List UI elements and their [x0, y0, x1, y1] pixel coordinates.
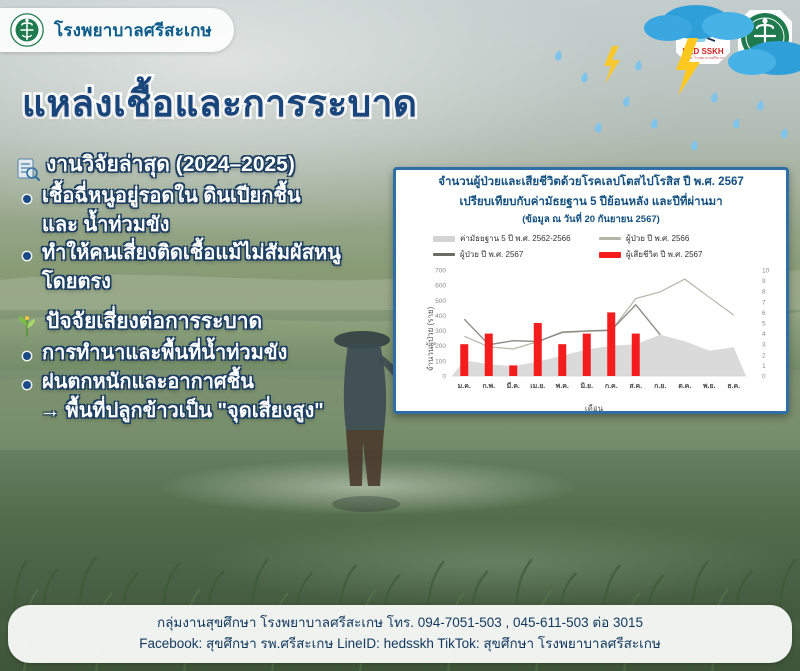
list-item: เชื้อฉี่หนูอยู่รอดใน ดินเปียกชื้น [14, 184, 414, 210]
partner-badges: HED SSKH สุขศึกษา โรงพยาบาลศรีสะเกษ [676, 10, 792, 64]
raindrop-icon [555, 50, 788, 151]
bullet-text: เชื้อฉี่หนูอยู่รอดใน ดินเปียกชื้น [42, 185, 301, 207]
chart-svg: 0100200300400500600700012345678910ม.ค.ก.… [396, 264, 789, 396]
legend-item-deaths-2567: ผู้เสียชีวิต ปี พ.ศ. 2567 [599, 248, 749, 261]
svg-text:6: 6 [762, 310, 766, 317]
chart-subtitle: (ข้อมูล ณ วันที่ 20 กันยายน 2567) [396, 210, 786, 227]
footer-contact: กลุ่มงานสุขศึกษา โรงพยาบาลศรีสะเกษ โทร. … [8, 605, 792, 663]
legend-swatch-cases-2567 [433, 253, 455, 256]
legend-swatch-cases-2566 [599, 237, 621, 240]
bullet-continuation-text: โดยตรง [42, 271, 111, 293]
section-heading: ปัจจัยเสี่ยงต่อการระบาด [46, 309, 262, 335]
svg-text:ต.ค.: ต.ค. [678, 383, 691, 390]
chart-title-line2: เปรียบเทียบกับค่ามัธยฐาน 5 ปีย้อนหลัง แล… [396, 190, 786, 210]
svg-text:1: 1 [762, 363, 766, 370]
legend-item-cases-2567: ผู้ป่วย ปี พ.ศ. 2567 [433, 248, 583, 261]
svg-text:ก.ย.: ก.ย. [654, 383, 666, 390]
svg-text:2: 2 [762, 353, 766, 360]
page-title: แหล่งเชื้อและการระบาด [22, 74, 417, 133]
section-risk-factors: ปัจจัยเสี่ยงต่อการระบาด การทำนาและพื้นที… [14, 309, 414, 424]
chart-legend: ค่ามัธยฐาน 5 ปี พ.ศ. 2562-2566 ผู้ป่วย ป… [396, 227, 786, 264]
svg-text:400: 400 [435, 313, 446, 320]
svg-text:พ.ค.: พ.ค. [556, 383, 569, 390]
svg-text:700: 700 [435, 268, 446, 275]
svg-text:200: 200 [435, 344, 446, 351]
legend-label: ผู้ป่วย ปี พ.ศ. 2567 [460, 248, 523, 261]
list-item: ทำให้คนเสี่ยงติดเชื้อแม้ไม่สัมผัสหนู [14, 241, 414, 267]
svg-text:500: 500 [435, 298, 446, 305]
legend-item-cases-2566: ผู้ป่วย ปี พ.ศ. 2566 [599, 232, 749, 245]
legend-label: ค่ามัธยฐาน 5 ปี พ.ศ. 2562-2566 [460, 232, 571, 245]
footer-line-1: กลุ่มงานสุขศึกษา โรงพยาบาลศรีสะเกษ โทร. … [22, 613, 778, 634]
hed-sskh-badge: HED SSKH สุขศึกษา โรงพยาบาลศรีสะเกษ [676, 10, 730, 64]
svg-text:มี.ค.: มี.ค. [506, 382, 520, 390]
section-conclusion: → พื้นที่ปลูกข้าวเป็น "จุดเสี่ยงสูง" [14, 399, 414, 425]
legend-item-median: ค่ามัธยฐาน 5 ปี พ.ศ. 2562-2566 [433, 232, 583, 245]
svg-text:ก.ค.: ก.ค. [605, 383, 618, 390]
x-axis-label: เดือน [396, 402, 789, 414]
bullet-dot-icon [23, 195, 31, 203]
svg-text:9: 9 [762, 278, 766, 285]
chart-card: จำนวนผู้ป่วยและเสียชีวิตด้วยโรคเลปโตสไปโ… [393, 167, 789, 414]
legend-label: ผู้ป่วย ปี พ.ศ. 2566 [626, 232, 689, 245]
chart-title-line1: จำนวนผู้ป่วยและเสียชีวิตด้วยโรคเลปโตสไปโ… [396, 170, 786, 190]
legend-label: ผู้เสียชีวิต ปี พ.ศ. 2567 [626, 248, 702, 261]
infographic-poster: โรงพยาบาลศรีสะเกษ HED SSKH สุขศึกษา โรงพ… [0, 0, 800, 671]
footer-line-2: Facebook: สุขศึกษา รพ.ศรีสะเกษ LineID: h… [22, 634, 778, 655]
brand-header-pill: โรงพยาบาลศรีสะเกษ [0, 8, 234, 52]
bullet-list-research: เชื้อฉี่หนูอยู่รอดใน ดินเปียกชื้น และ น้… [14, 184, 414, 295]
research-document-icon [14, 156, 40, 182]
svg-text:4: 4 [762, 331, 766, 338]
list-item: การทำนาและพื้นที่น้ำท่วมขัง [14, 341, 414, 367]
svg-text:เม.ย.: เม.ย. [530, 383, 545, 390]
ministry-of-public-health-logo-icon [10, 13, 44, 47]
bullet-text: ฝนตกหนักและอากาศชื้น [42, 371, 254, 393]
svg-text:10: 10 [762, 268, 770, 275]
svg-text:0: 0 [442, 374, 446, 381]
moph-seal-badge [738, 10, 792, 64]
bullet-dot-icon [23, 381, 31, 389]
bullet-text: ทำให้คนเสี่ยงติดเชื้อแม้ไม่สัมผัสหนู [42, 242, 341, 264]
svg-text:ม.ค.: ม.ค. [458, 383, 471, 390]
svg-text:7: 7 [762, 300, 766, 307]
chart-plot-area: จำนวนผู้ป่วย (ราย) 010020030040050060070… [396, 264, 789, 414]
svg-text:3: 3 [762, 342, 766, 349]
svg-text:HED SSKH: HED SSKH [682, 47, 724, 56]
svg-text:ก.พ.: ก.พ. [482, 383, 495, 390]
ministry-of-public-health-seal-icon [738, 10, 792, 64]
section-heading: งานวิจัยล่าสุด (2024–2025) [46, 152, 295, 178]
svg-text:0: 0 [762, 374, 766, 381]
svg-text:พ.ย.: พ.ย. [703, 383, 716, 390]
list-item-continuation: โดยตรง [14, 270, 414, 296]
water-reflection-overlay [0, 430, 800, 620]
svg-text:มิ.ย.: มิ.ย. [580, 382, 593, 390]
list-item-continuation: และ น้ำท่วมขัง [14, 213, 414, 239]
svg-text:5: 5 [762, 321, 766, 328]
legend-swatch-deaths-2567 [599, 252, 621, 258]
organization-name: โรงพยาบาลศรีสะเกษ [54, 17, 212, 44]
svg-text:300: 300 [435, 328, 446, 335]
svg-text:ธ.ค.: ธ.ค. [727, 383, 740, 390]
svg-text:8: 8 [762, 289, 766, 296]
list-item: ฝนตกหนักและอากาศชื้น [14, 370, 414, 396]
rice-sprout-icon [14, 313, 40, 339]
svg-text:600: 600 [435, 283, 446, 290]
bullet-content: งานวิจัยล่าสุด (2024–2025) เชื้อฉี่หนูอย… [14, 152, 414, 427]
bullet-dot-icon [23, 352, 31, 360]
bullet-dot-icon [23, 252, 31, 260]
legend-swatch-median [433, 236, 455, 242]
svg-text:100: 100 [435, 359, 446, 366]
y-axis-label: จำนวนผู้ป่วย (ราย) [424, 307, 437, 372]
bullet-list-risk: การทำนาและพื้นที่น้ำท่วมขัง ฝนตกหนักและอ… [14, 341, 414, 395]
section-research: งานวิจัยล่าสุด (2024–2025) เชื้อฉี่หนูอย… [14, 152, 414, 295]
hed-sskh-mascot-badge-icon: HED SSKH สุขศึกษา โรงพยาบาลศรีสะเกษ [676, 10, 730, 64]
svg-text:ส.ค.: ส.ค. [629, 383, 642, 390]
bullet-continuation-text: และ น้ำท่วมขัง [42, 214, 169, 236]
bullet-text: การทำนาและพื้นที่น้ำท่วมขัง [42, 342, 287, 364]
